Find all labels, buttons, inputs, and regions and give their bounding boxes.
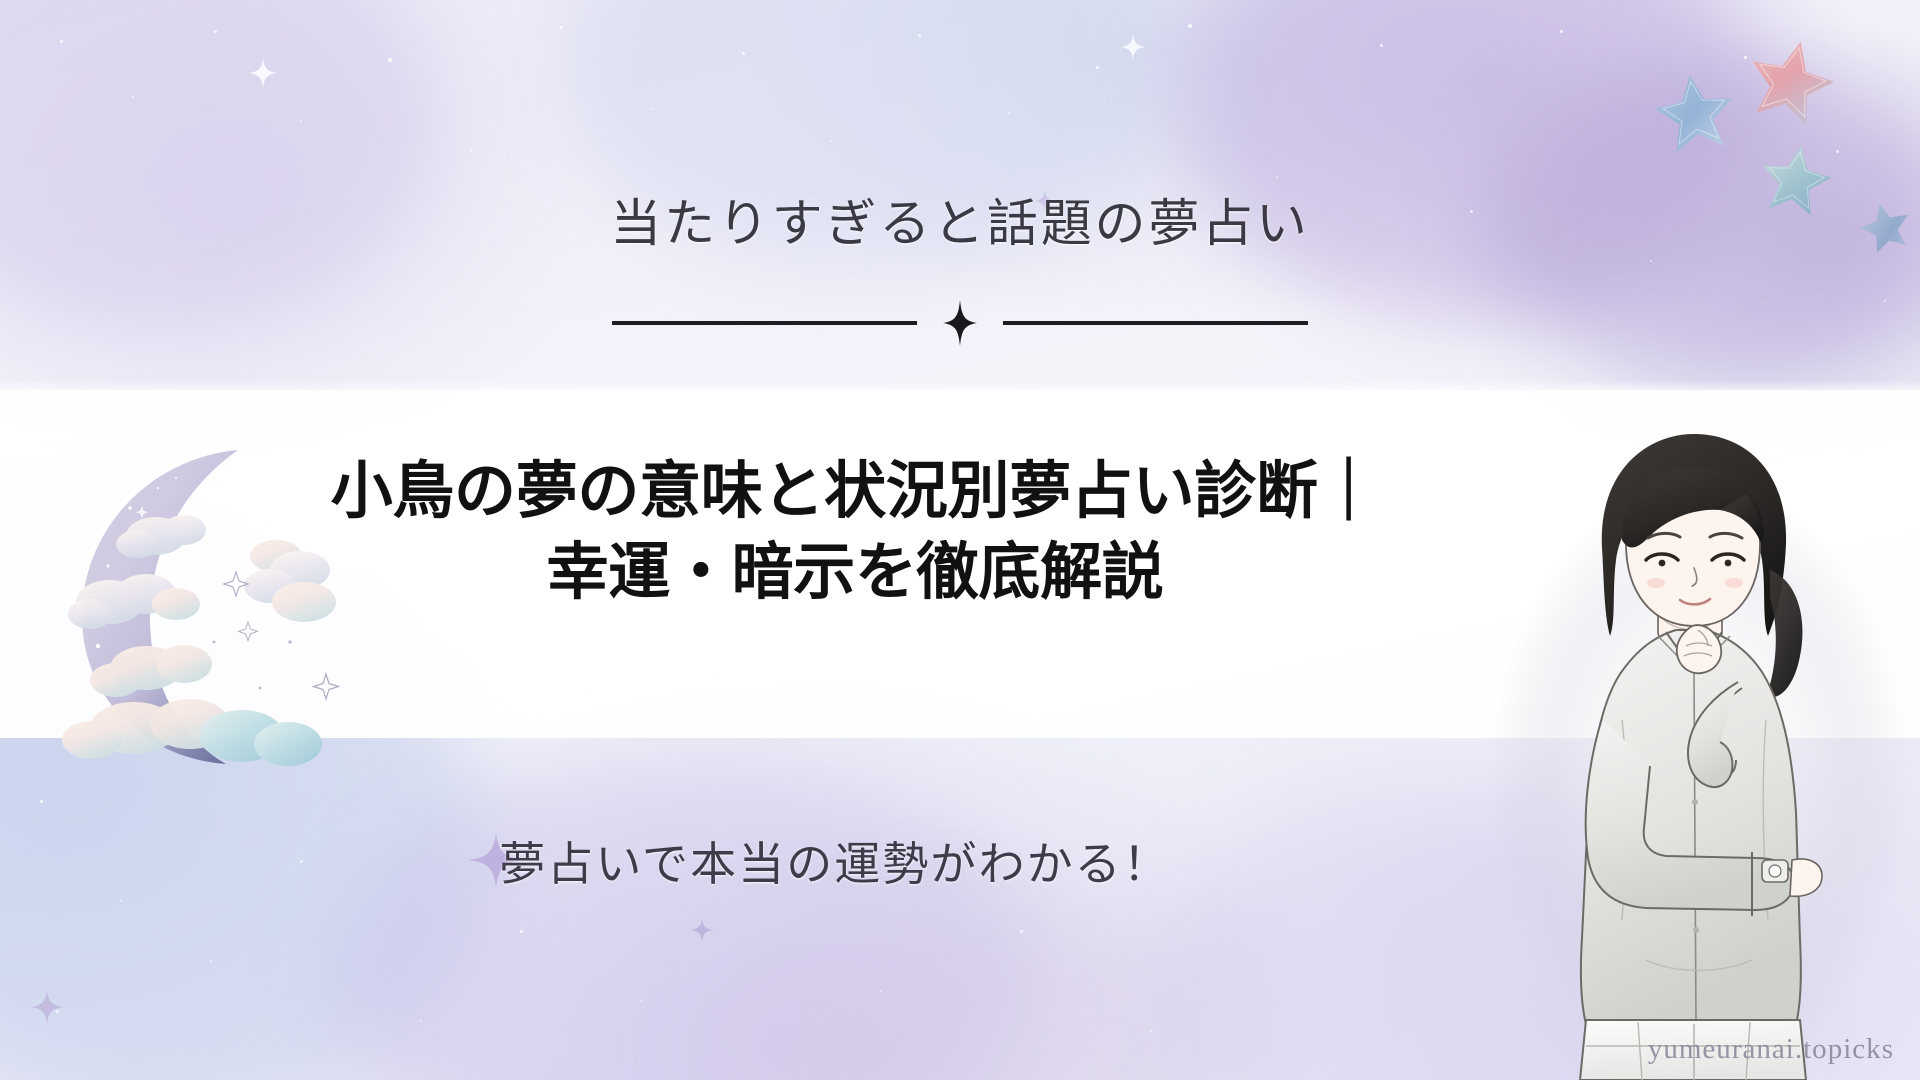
tagline-text: 当たりすぎると話題の夢占い <box>610 196 1309 255</box>
ornamental-divider <box>0 300 1920 346</box>
watercolor-star-blue <box>1651 69 1739 154</box>
site-watermark: yumeuranai.topicks <box>1648 1033 1894 1066</box>
title-line-2: 幸運・暗示を徹底解説 <box>30 533 1680 614</box>
divider-line-left <box>612 321 917 325</box>
sparkle-icon <box>30 990 64 1024</box>
background-wash <box>0 0 440 330</box>
sparkle-icon <box>248 58 278 88</box>
eyecatch-canvas: 当たりすぎると話題の夢占い <box>0 0 1920 1080</box>
sparkle-icon <box>1120 34 1146 60</box>
background-wash <box>700 900 1220 1080</box>
woman-illustration <box>1470 420 1910 1080</box>
background-wash <box>330 760 1030 1080</box>
four-point-star-icon <box>943 300 977 346</box>
watercolor-star-pink <box>1741 32 1842 130</box>
title-line-1: 小鳥の夢の意味と状況別夢占い診断｜ <box>30 452 1680 533</box>
sparkle-icon <box>690 918 714 942</box>
decorative-stars-group <box>1400 0 1920 340</box>
background-wash <box>1180 0 1760 320</box>
subcatch-text: 夢占いで本当の運勢がわかる！ <box>499 839 1171 890</box>
tagline-wrapper: 当たりすぎると話題の夢占い <box>0 196 1920 255</box>
divider-line-right <box>1003 321 1308 325</box>
